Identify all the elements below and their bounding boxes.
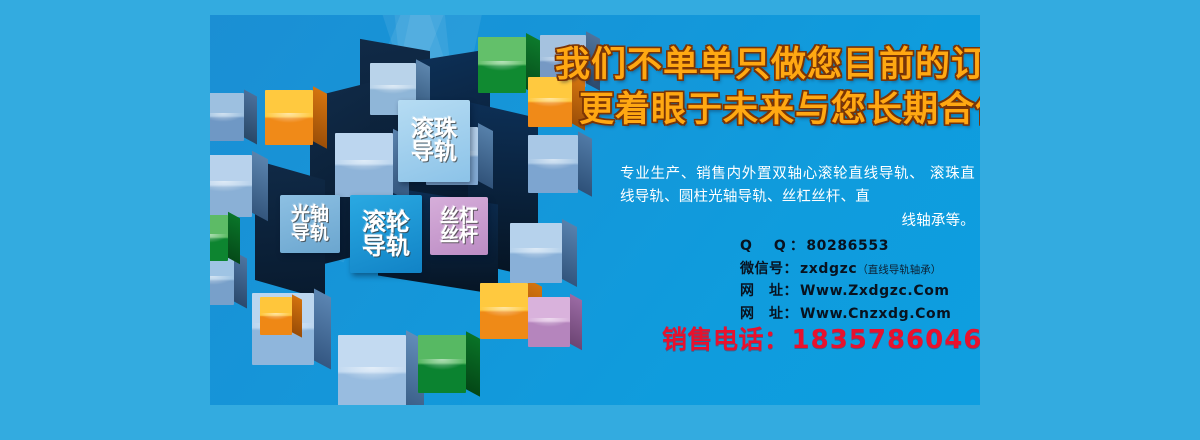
product-label-gunzhu-daogui: 滚珠 导轨 [398,100,470,182]
cube-face [418,335,466,393]
cube-blue [528,135,578,193]
product-label-line2: 导轨 [362,234,410,258]
cube-orange [260,297,292,335]
cube-face [260,297,292,335]
cube-blue [335,133,393,197]
cube-face [528,297,570,347]
contact-row-qq: Q Q ： 80286553 [740,235,980,258]
cube-side [313,86,327,148]
contact-separator: ： [790,235,805,258]
description-line-1: 专业生产、销售内外置双轴心滚轮直线导轨、 [620,166,925,182]
cube-side [314,288,331,369]
cube-blue [338,335,406,405]
contact-separator: ： [784,280,799,303]
cube-face [510,223,562,283]
cube-side [244,90,257,145]
cube-blue [210,155,252,217]
headline-line-2: 更着眼于未来与您长期合作 [579,88,975,133]
cube-face [210,155,252,217]
cube-side [478,123,493,189]
contact-value-qq: 80286553 [806,235,889,258]
sales-phone-number: 18357860469 [792,325,980,355]
product-label-sigang-sigan: 丝杠 丝杆 [430,197,488,255]
cube-side [292,294,302,337]
product-label-line2: 丝杆 [440,226,478,245]
sales-phone-label: 销售电话： [662,325,790,354]
product-label-gunlun-daogui: 滚轮 导轨 [350,195,422,273]
cube-face [210,93,244,141]
banner-panel: 滚珠 导轨 光轴 导轨 滚轮 导轨 丝杠 丝杆 我们不单单只做您目前的订单 更着… [210,15,980,405]
cube-orange [480,283,528,339]
cube-side [578,131,592,196]
cube-green [210,215,228,261]
contact-value-website-1[interactable]: Www.Zxdgzc.Com [800,280,950,303]
contact-row-website-1: 网 址 ： Www.Zxdgzc.Com [740,280,980,303]
banner-image: 滚珠 导轨 光轴 导轨 滚轮 导轨 丝杠 丝杆 我们不单单只做您目前的订单 更着… [0,0,1200,440]
contact-value-wechat: zxdgzc [800,258,857,281]
cube-blue [510,223,562,283]
cube-face [338,335,406,405]
headline-line-1: 我们不单单只做您目前的订单 [555,43,975,88]
contact-note-wechat: （直线导轨轴承） [857,262,941,279]
contact-key: Q Q [740,235,790,258]
product-label-guangzhou-daogui: 光轴 导轨 [280,195,340,253]
cube-face [265,90,313,145]
product-label-line1: 滚轮 [362,210,410,234]
cube-face [335,133,393,197]
product-label-line1: 滚珠 [411,118,457,141]
product-label-line2: 导轨 [291,224,329,243]
contact-key: 微信号 [740,258,784,281]
description-block: 专业生产、销售内外置双轴心滚轮直线导轨、 滚珠直线导轨、圆柱光轴导轨、丝杠丝杆、… [620,163,975,233]
contact-key: 网 址 [740,280,784,303]
cube-side [562,219,577,287]
sales-phone-block: 销售电话：18357860469 [662,320,980,356]
cube-face [478,37,526,93]
cube-green [478,37,526,93]
description-line-3: 线轴承等。 [620,210,975,233]
cube-face [210,215,228,261]
cube-side [570,294,582,350]
contact-block: Q Q ： 80286553 微信号 ： zxdgzc （直线导轨轴承） 网 址… [740,235,980,326]
contact-row-wechat: 微信号 ： zxdgzc （直线导轨轴承） [740,258,980,281]
headline-block: 我们不单单只做您目前的订单 更着眼于未来与您长期合作 [555,43,975,133]
cube-blue [210,93,244,141]
product-label-line2: 导轨 [411,141,457,164]
cube-side [252,151,268,222]
cube-green [418,335,466,393]
cube-side [466,331,480,396]
cube-side [228,212,240,264]
cube-face [528,135,578,193]
cube-cluster-artwork: 滚珠 导轨 光轴 导轨 滚轮 导轨 丝杠 丝杆 [210,15,570,405]
cube-face [210,255,234,305]
cube-face [480,283,528,339]
cube-orange [265,90,313,145]
cube-pink [528,297,570,347]
contact-separator: ： [784,258,799,281]
cube-blue [210,255,234,305]
